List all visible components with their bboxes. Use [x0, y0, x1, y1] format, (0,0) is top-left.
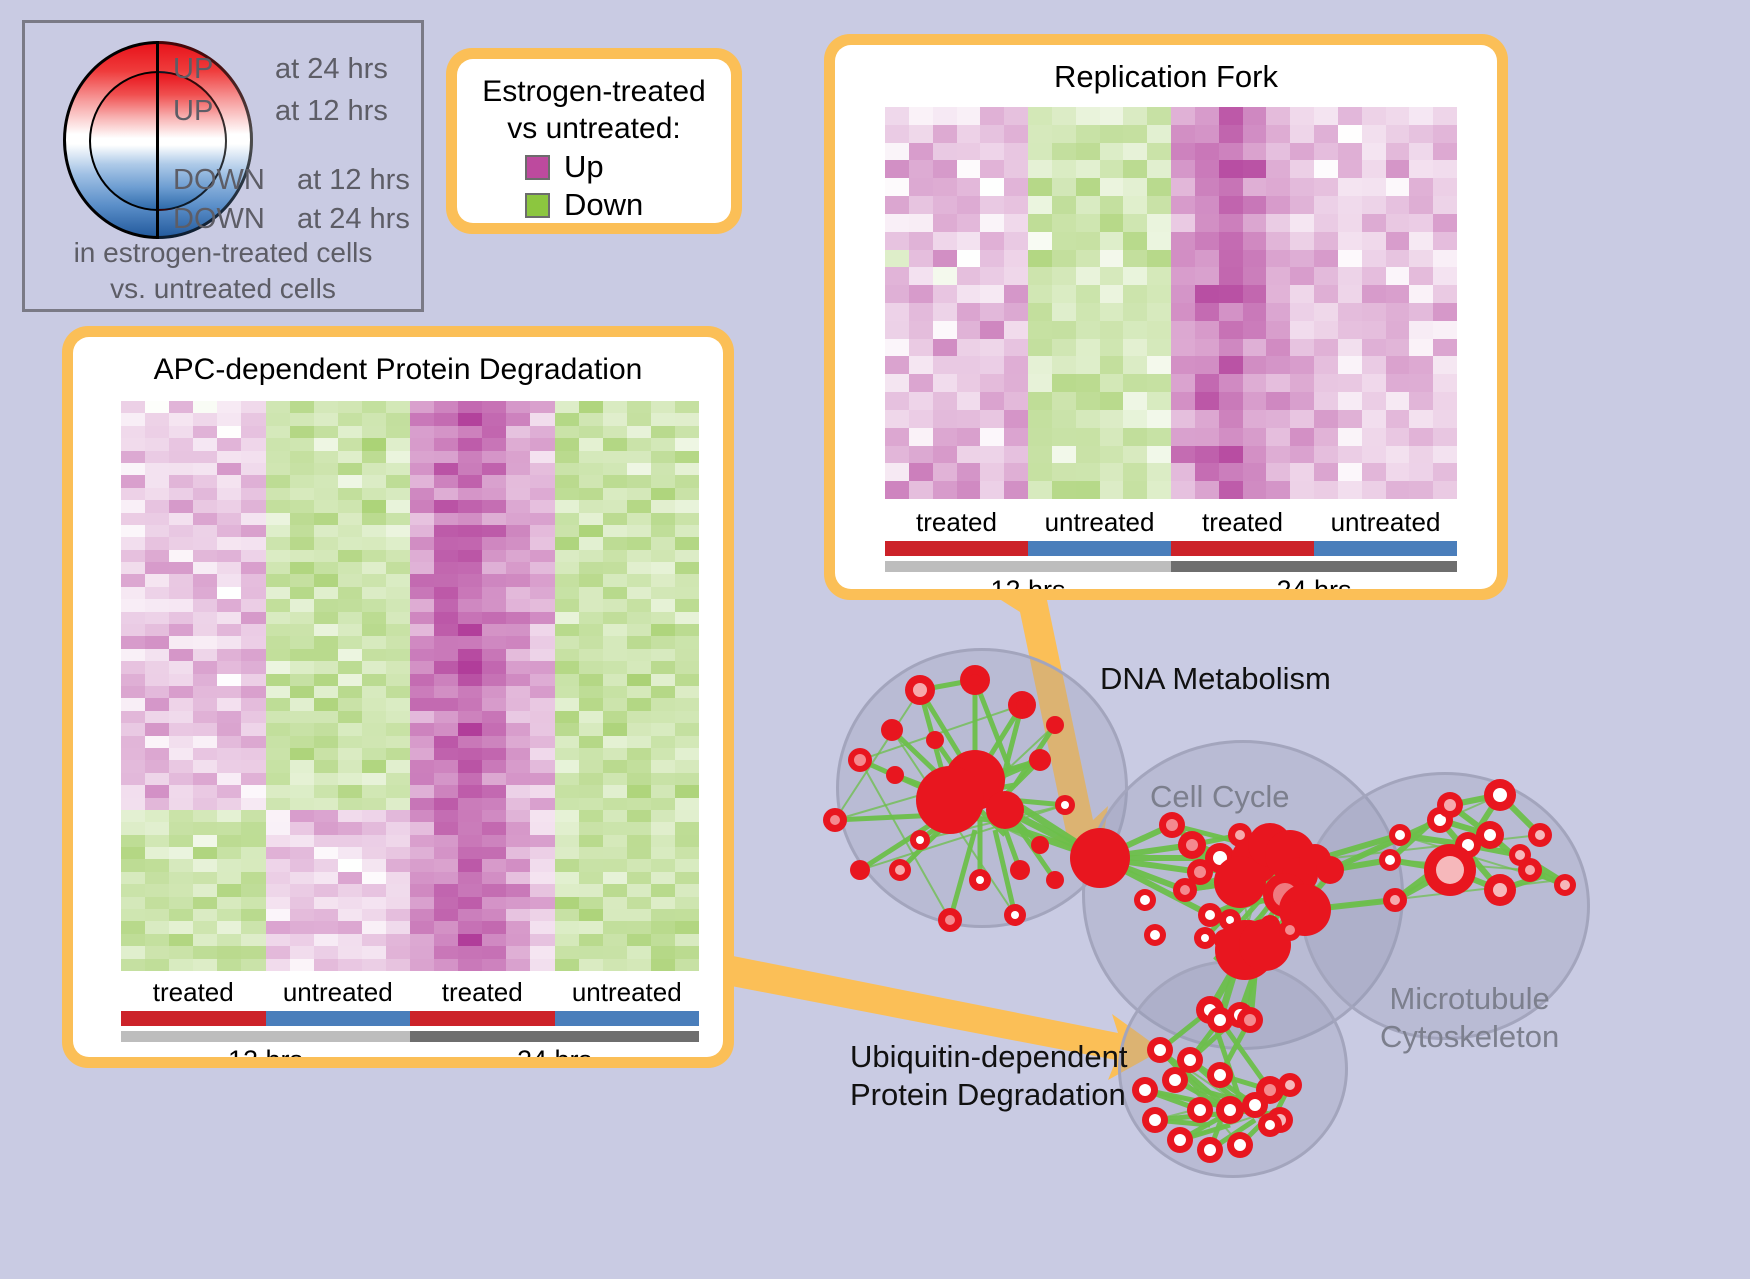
heatmap-cell — [651, 537, 675, 549]
heatmap-cell — [885, 160, 909, 178]
heatmap-cell — [266, 884, 290, 896]
heatmap-cell — [1100, 214, 1124, 232]
heatmap-cell — [121, 760, 145, 772]
treatment-bar-0 — [885, 541, 1028, 556]
heatmap-cell — [1386, 107, 1410, 125]
heatmap-cell — [410, 562, 434, 574]
heatmap-cell — [266, 451, 290, 463]
heatmap-cell — [909, 303, 933, 321]
heatmap-cell — [193, 847, 217, 859]
heatmap-cell — [338, 636, 362, 648]
heatmap-cell — [241, 736, 265, 748]
heatmap-cell — [434, 636, 458, 648]
heatmap-cell — [506, 426, 530, 438]
heatmap-cell — [121, 574, 145, 586]
heatmap-cell — [1004, 303, 1028, 321]
heatmap-cell — [217, 649, 241, 661]
heatmap-cell — [290, 736, 314, 748]
heatmap-cell — [217, 859, 241, 871]
heatmap-cell — [933, 428, 957, 446]
heatmap-cell — [909, 481, 933, 499]
heatmap-cell — [1409, 178, 1433, 196]
heatmap-cell — [1266, 481, 1290, 499]
heatmap-cell — [627, 798, 651, 810]
time-label-1: 24 hrs — [410, 1045, 699, 1057]
heatmap-cell — [627, 822, 651, 834]
heatmap-cell — [362, 426, 386, 438]
heatmap-cell — [386, 711, 410, 723]
heatmap-cell — [169, 810, 193, 822]
heatmap-cell — [386, 426, 410, 438]
heatmap-cell — [1362, 196, 1386, 214]
heatmap-cell — [1076, 267, 1100, 285]
heatmap-cell — [482, 934, 506, 946]
heatmap-cell — [121, 612, 145, 624]
heatmap-cell — [627, 488, 651, 500]
legend-item-up-label: Up — [564, 149, 604, 185]
heatmap-cell — [1386, 196, 1410, 214]
apc-treatment-bars — [121, 1011, 699, 1026]
heatmap-cell — [482, 612, 506, 624]
heatmap-cell — [482, 921, 506, 933]
heatmap-cell — [1195, 446, 1219, 464]
heatmap-cell — [933, 250, 957, 268]
heatmap-cell — [145, 537, 169, 549]
heatmap-cell — [386, 884, 410, 896]
heatmap-cell — [1195, 178, 1219, 196]
heatmap-cell — [1100, 178, 1124, 196]
heatmap-cell — [482, 624, 506, 636]
heatmap-cell — [338, 463, 362, 475]
heatmap-cell — [1433, 214, 1457, 232]
heatmap-cell — [603, 773, 627, 785]
heatmap-cell — [338, 698, 362, 710]
heatmap-cell — [1100, 374, 1124, 392]
heatmap-cell — [651, 711, 675, 723]
heatmap-cell — [362, 736, 386, 748]
heatmap-cell — [241, 773, 265, 785]
heatmap-cell — [885, 214, 909, 232]
heatmap-cell — [1219, 374, 1243, 392]
heatmap-cell — [290, 859, 314, 871]
heatmap-cell — [603, 711, 627, 723]
heatmap-cell — [193, 513, 217, 525]
heatmap-cell — [1052, 463, 1076, 481]
heatmap-cell — [386, 537, 410, 549]
heatmap-cell — [338, 959, 362, 971]
heatmap-cell — [217, 934, 241, 946]
heatmap-cell — [555, 475, 579, 487]
heatmap-cell — [410, 859, 434, 871]
heatmap-cell — [458, 488, 482, 500]
heatmap-cell — [506, 760, 530, 772]
heatmap-cell — [1076, 428, 1100, 446]
heatmap-cell — [675, 711, 699, 723]
heatmap-cell — [241, 500, 265, 512]
heatmap-cell — [145, 649, 169, 661]
heatmap-cell — [338, 686, 362, 698]
heatmap-cell — [386, 562, 410, 574]
heatmap-cell — [1195, 356, 1219, 374]
heatmap-cell — [933, 481, 957, 499]
heatmap-cell — [121, 798, 145, 810]
heatmap-cell — [290, 475, 314, 487]
heatmap-cell — [506, 698, 530, 710]
heatmap-cell — [1195, 410, 1219, 428]
heatmap-cell — [121, 599, 145, 611]
heatmap-cell — [603, 562, 627, 574]
heatmap-cell — [482, 859, 506, 871]
heatmap-cell — [145, 463, 169, 475]
heatmap-cell — [193, 488, 217, 500]
heatmap-cell — [1314, 178, 1338, 196]
heatmap-cell — [957, 232, 981, 250]
heatmap-cell — [627, 711, 651, 723]
replication-fork-treatment-bars — [885, 541, 1457, 556]
heatmap-cell — [627, 413, 651, 425]
heatmap-cell — [555, 599, 579, 611]
heatmap-cell — [957, 374, 981, 392]
heatmap-cell — [482, 649, 506, 661]
heatmap-cell — [530, 500, 554, 512]
heatmap-cell — [506, 612, 530, 624]
heatmap-cell — [909, 374, 933, 392]
heatmap-cell — [266, 624, 290, 636]
heatmap-cell — [675, 959, 699, 971]
heatmap-cell — [482, 475, 506, 487]
heatmap-cell — [933, 267, 957, 285]
heatmap-cell — [145, 401, 169, 413]
heatmap-cell — [980, 125, 1004, 143]
heatmap-cell — [410, 525, 434, 537]
heatmap-cell — [193, 636, 217, 648]
heatmap-cell — [362, 624, 386, 636]
heatmap-cell — [434, 500, 458, 512]
heatmap-cell — [241, 897, 265, 909]
heatmap-cell — [410, 798, 434, 810]
heatmap-cell — [386, 946, 410, 958]
heatmap-cell — [410, 872, 434, 884]
heatmap-cell — [145, 897, 169, 909]
network-graph — [800, 620, 1750, 1279]
heatmap-cell — [1362, 428, 1386, 446]
heatmap-cell — [121, 736, 145, 748]
heatmap-cell — [1409, 214, 1433, 232]
heatmap-cell — [386, 859, 410, 871]
heatmap-cell — [362, 723, 386, 735]
heatmap-cell — [266, 909, 290, 921]
heatmap-cell — [241, 488, 265, 500]
heatmap-cell — [1386, 125, 1410, 143]
heatmap-cell — [362, 413, 386, 425]
heatmap-cell — [933, 374, 957, 392]
down-color-swatch — [525, 193, 550, 218]
heatmap-cell — [169, 463, 193, 475]
heatmap-cell — [933, 356, 957, 374]
heatmap-cell — [530, 711, 554, 723]
heatmap-cell — [1195, 160, 1219, 178]
heatmap-cell — [1219, 356, 1243, 374]
heatmap-cell — [506, 723, 530, 735]
heatmap-cell — [217, 451, 241, 463]
heatmap-cell — [603, 500, 627, 512]
heatmap-cell — [1386, 356, 1410, 374]
heatmap-cell — [675, 686, 699, 698]
heatmap-cell — [434, 574, 458, 586]
heatmap-cell — [434, 773, 458, 785]
heatmap-cell — [980, 428, 1004, 446]
heatmap-cell — [362, 463, 386, 475]
heatmap-cell — [1052, 481, 1076, 499]
heatmap-cell — [458, 599, 482, 611]
heatmap-cell — [121, 636, 145, 648]
heatmap-cell — [338, 760, 362, 772]
heatmap-cell — [530, 760, 554, 772]
heatmap-cell — [675, 636, 699, 648]
time-bar-24 hrs — [1171, 561, 1457, 572]
heatmap-cell — [1409, 410, 1433, 428]
heatmap-cell — [530, 835, 554, 847]
heatmap-cell — [314, 426, 338, 438]
heatmap-cell — [1123, 446, 1147, 464]
heatmap-cell — [241, 562, 265, 574]
time-bar-24 hrs — [410, 1031, 699, 1042]
heatmap-cell — [314, 698, 338, 710]
heatmap-cell — [530, 897, 554, 909]
heatmap-cell — [217, 438, 241, 450]
heatmap-cell — [290, 612, 314, 624]
time-label-1: 24 hrs — [1171, 575, 1457, 589]
heatmap-cell — [338, 723, 362, 735]
heatmap-cell — [675, 537, 699, 549]
heatmap-cell — [1195, 214, 1219, 232]
heatmap-cell — [1386, 410, 1410, 428]
heatmap-cell — [675, 488, 699, 500]
heatmap-cell — [627, 674, 651, 686]
heatmap-cell — [290, 599, 314, 611]
heatmap-cell — [145, 562, 169, 574]
heatmap-cell — [1123, 356, 1147, 374]
heatmap-cell — [121, 934, 145, 946]
heatmap-cell — [675, 872, 699, 884]
heatmap-cell — [121, 426, 145, 438]
heatmap-cell — [555, 451, 579, 463]
heatmap-cell — [217, 636, 241, 648]
heatmap-cell — [410, 785, 434, 797]
heatmap-cell — [1123, 196, 1147, 214]
heatmap-cell — [458, 537, 482, 549]
heatmap-cell — [145, 959, 169, 971]
heatmap-cell — [1266, 446, 1290, 464]
heatmap-cell — [362, 587, 386, 599]
heatmap-cell — [1362, 285, 1386, 303]
heatmap-cell — [434, 847, 458, 859]
heatmap-cell — [193, 686, 217, 698]
heatmap-cell — [909, 196, 933, 214]
heatmap-cell — [579, 835, 603, 847]
heatmap-cell — [338, 500, 362, 512]
heatmap-cell — [1433, 356, 1457, 374]
heatmap-cell — [410, 401, 434, 413]
heatmap-cell — [651, 624, 675, 636]
heatmap-cell — [651, 760, 675, 772]
heatmap-cell — [506, 934, 530, 946]
heatmap-cell — [1243, 178, 1267, 196]
heatmap-cell — [1409, 321, 1433, 339]
heatmap-cell — [651, 798, 675, 810]
heatmap-cell — [266, 723, 290, 735]
heatmap-cell — [410, 822, 434, 834]
heatmap-cell — [909, 250, 933, 268]
heatmap-cell — [579, 798, 603, 810]
heatmap-cell — [314, 500, 338, 512]
heatmap-cell — [482, 835, 506, 847]
heatmap-cell — [530, 451, 554, 463]
heatmap-cell — [193, 736, 217, 748]
heatmap-cell — [579, 810, 603, 822]
heatmap-cell — [530, 599, 554, 611]
heatmap-cell — [1147, 143, 1171, 161]
heatmap-cell — [1076, 285, 1100, 303]
heatmap-cell — [1195, 143, 1219, 161]
heatmap-cell — [193, 822, 217, 834]
heatmap-cell — [579, 847, 603, 859]
heatmap-cell — [1171, 339, 1195, 357]
heatmap-cell — [627, 921, 651, 933]
group-label-treated-0: treated — [885, 507, 1028, 538]
heatmap-cell — [217, 884, 241, 896]
heatmap-cell — [362, 525, 386, 537]
heatmap-cell — [1386, 214, 1410, 232]
heatmap-cell — [579, 946, 603, 958]
heatmap-cell — [193, 463, 217, 475]
heatmap-cell — [1409, 446, 1433, 464]
heatmap-cell — [290, 835, 314, 847]
heatmap-cell — [909, 410, 933, 428]
heatmap-cell — [145, 612, 169, 624]
heatmap-cell — [386, 661, 410, 673]
heatmap-cell — [1076, 392, 1100, 410]
heatmap-cell — [627, 847, 651, 859]
heatmap-cell — [1409, 374, 1433, 392]
heatmap-cell — [290, 513, 314, 525]
heatmap-cell — [338, 612, 362, 624]
heatmap-cell — [506, 946, 530, 958]
heatmap-cell — [266, 599, 290, 611]
heatmap-cell — [1076, 125, 1100, 143]
heatmap-cell — [338, 909, 362, 921]
heatmap-cell — [1123, 285, 1147, 303]
heatmap-cell — [266, 698, 290, 710]
heatmap-cell — [1219, 410, 1243, 428]
heatmap-cell — [1266, 356, 1290, 374]
heatmap-cell — [1219, 232, 1243, 250]
heatmap-cell — [675, 921, 699, 933]
heatmap-cell — [1171, 356, 1195, 374]
heatmap-cell — [555, 822, 579, 834]
heatmap-cell — [386, 760, 410, 772]
heatmap-cell — [1386, 267, 1410, 285]
heatmap-cell — [314, 946, 338, 958]
heatmap-cell — [145, 661, 169, 673]
heatmap-cell — [434, 736, 458, 748]
heatmap-cell — [1290, 214, 1314, 232]
heatmap-cell — [651, 959, 675, 971]
heatmap-cell — [530, 537, 554, 549]
heatmap-cell — [885, 339, 909, 357]
heatmap-cell — [290, 401, 314, 413]
heatmap-cell — [1171, 463, 1195, 481]
heatmap-cell — [314, 798, 338, 810]
heatmap-cell — [362, 934, 386, 946]
heatmap-cell — [555, 946, 579, 958]
panel-replication-fork: Replication Fork treateduntreatedtreated… — [824, 34, 1508, 600]
heatmap-cell — [909, 356, 933, 374]
treatment-bar-2 — [1171, 541, 1314, 556]
heatmap-cell — [338, 401, 362, 413]
heatmap-cell — [1171, 428, 1195, 446]
heatmap-cell — [603, 686, 627, 698]
heatmap-cell — [458, 859, 482, 871]
heatmap-cell — [410, 748, 434, 760]
heatmap-cell — [410, 736, 434, 748]
heatmap-cell — [482, 711, 506, 723]
heatmap-cell — [1004, 374, 1028, 392]
heatmap-cell — [338, 550, 362, 562]
heatmap-cell — [169, 748, 193, 760]
heatmap-cell — [1433, 232, 1457, 250]
heatmap-cell — [555, 525, 579, 537]
heatmap-cell — [290, 587, 314, 599]
heatmap-cell — [530, 736, 554, 748]
heatmap-cell — [1028, 143, 1052, 161]
heatmap-cell — [121, 537, 145, 549]
heatmap-cell — [627, 426, 651, 438]
heatmap-cell — [241, 661, 265, 673]
heatmap-cell — [1243, 250, 1267, 268]
heatmap-cell — [885, 481, 909, 499]
heatmap-cell — [145, 810, 169, 822]
heatmap-cell — [1290, 356, 1314, 374]
heatmap-cell — [1266, 160, 1290, 178]
heatmap-cell — [1314, 160, 1338, 178]
heatmap-cell — [1147, 410, 1171, 428]
heatmap-cell — [266, 921, 290, 933]
heatmap-cell — [241, 921, 265, 933]
heatmap-cell — [579, 897, 603, 909]
heatmap-cell — [957, 481, 981, 499]
heatmap-cell — [1362, 232, 1386, 250]
heatmap-cell — [1290, 374, 1314, 392]
heatmap-cell — [290, 649, 314, 661]
heatmap-cell — [1147, 463, 1171, 481]
heatmap-cell — [555, 698, 579, 710]
heatmap-cell — [338, 884, 362, 896]
heatmap-cell — [217, 674, 241, 686]
heatmap-cell — [121, 587, 145, 599]
heatmap-cell — [386, 624, 410, 636]
apc-time-bars — [121, 1031, 699, 1042]
heatmap-cell — [1004, 125, 1028, 143]
heatmap-cell — [121, 649, 145, 661]
heatmap-cell — [290, 562, 314, 574]
heatmap-cell — [121, 711, 145, 723]
heatmap-cell — [1123, 125, 1147, 143]
heatmap-cell — [1100, 392, 1124, 410]
heatmap-cell — [290, 723, 314, 735]
heatmap-cell — [1004, 143, 1028, 161]
heatmap-cell — [338, 934, 362, 946]
